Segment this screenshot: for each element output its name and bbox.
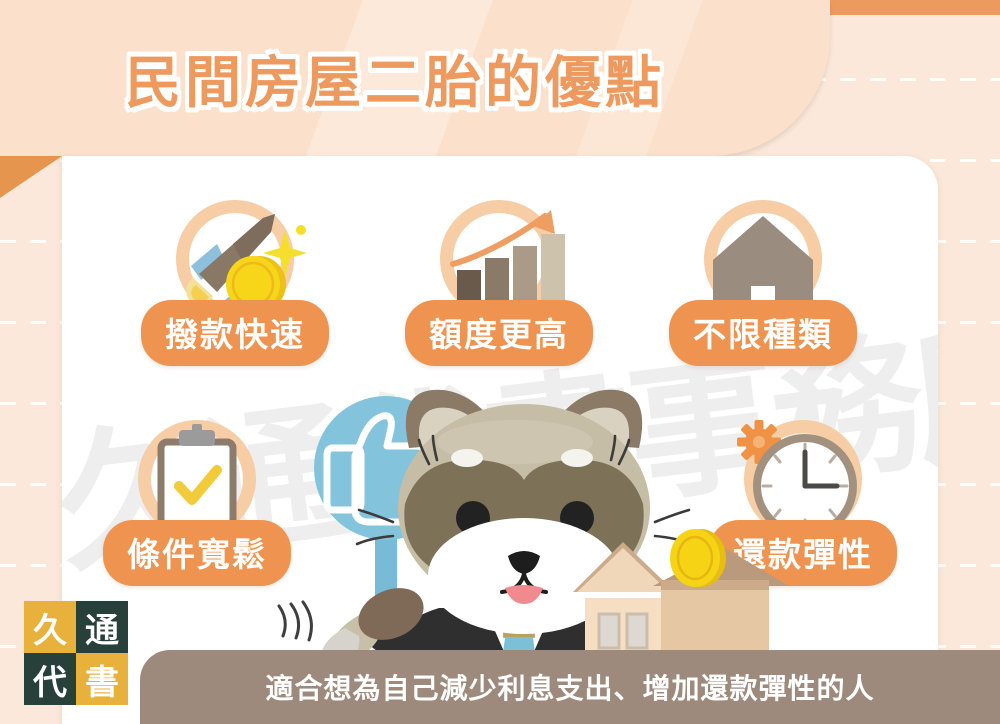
ribbon-fold-corner (0, 156, 62, 198)
feature-label-pill[interactable]: 撥款快速 (141, 300, 329, 366)
feature-label-pill[interactable]: 不限種類 (669, 300, 857, 366)
infographic-root: 民間房屋二胎的優點 久通代書事務所 (0, 0, 1000, 724)
logo-cell-1: 久 (24, 601, 76, 653)
page-title: 民間房屋二胎的優點 (0, 0, 830, 156)
header-banner: 民間房屋二胎的優點 (0, 0, 830, 156)
logo-cell-3: 代 (24, 653, 76, 705)
footer-banner: 適合想為自己減少利息支出、增加還款彈性的人 (140, 650, 1000, 724)
logo-cell-2: 通 (76, 601, 128, 653)
footer-text: 適合想為自己減少利息支出、增加還款彈性的人 (265, 667, 874, 707)
brand-logo[interactable]: 久 通 代 書 (24, 601, 128, 705)
logo-cell-4: 書 (76, 653, 128, 705)
content-card: 久通代書事務所 (62, 156, 938, 724)
feature-label-pill[interactable]: 額度更高 (405, 300, 593, 366)
